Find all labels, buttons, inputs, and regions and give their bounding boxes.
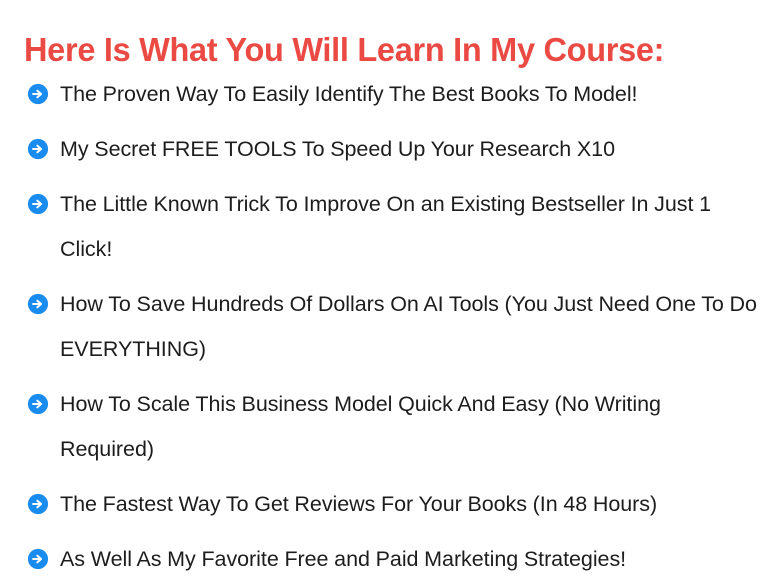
list-item-label: How To Scale This Business Model Quick A… <box>60 382 757 472</box>
list-item-label: My Secret FREE TOOLS To Speed Up Your Re… <box>60 127 757 172</box>
arrow-circle-right-icon <box>27 493 49 515</box>
list-item-label: The Little Known Trick To Improve On an … <box>60 182 757 272</box>
list-item-label: The Proven Way To Easily Identify The Be… <box>60 72 757 117</box>
list-item: The Proven Way To Easily Identify The Be… <box>0 72 769 117</box>
list-item-label: As Well As My Favorite Free and Paid Mar… <box>60 537 757 582</box>
list-item-label: The Fastest Way To Get Reviews For Your … <box>60 482 757 527</box>
arrow-circle-right-icon <box>27 393 49 415</box>
arrow-circle-right-icon <box>27 293 49 315</box>
list-item: How To Save Hundreds Of Dollars On AI To… <box>0 282 769 372</box>
list-item-label: How To Save Hundreds Of Dollars On AI To… <box>60 282 757 372</box>
list-item: How To Scale This Business Model Quick A… <box>0 382 769 472</box>
benefits-list: The Proven Way To Easily Identify The Be… <box>0 72 769 582</box>
course-benefits-section: Here Is What You Will Learn In My Course… <box>0 0 769 525</box>
arrow-circle-right-icon <box>27 83 49 105</box>
list-item: The Little Known Trick To Improve On an … <box>0 182 769 272</box>
list-item: The Fastest Way To Get Reviews For Your … <box>0 482 769 527</box>
arrow-circle-right-icon <box>27 193 49 215</box>
arrow-circle-right-icon <box>27 548 49 570</box>
page-title: Here Is What You Will Learn In My Course… <box>24 30 743 70</box>
list-item: My Secret FREE TOOLS To Speed Up Your Re… <box>0 127 769 172</box>
arrow-circle-right-icon <box>27 138 49 160</box>
list-item: As Well As My Favorite Free and Paid Mar… <box>0 537 769 582</box>
